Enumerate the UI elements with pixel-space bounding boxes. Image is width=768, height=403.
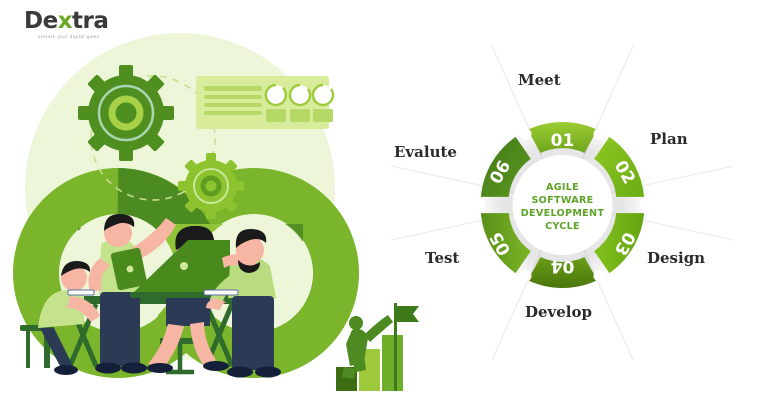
cycle-label-plan[interactable]: Plan	[650, 130, 688, 148]
dashboard-panel-icon	[196, 76, 333, 129]
team-collaboration-illustration	[8, 28, 368, 388]
illustration-svg	[8, 28, 368, 388]
cycle-label-develop[interactable]: Develop	[525, 303, 592, 321]
p4-legs	[232, 296, 274, 370]
cycle-label-design[interactable]: Design	[647, 249, 705, 267]
core-line-1: AGILE	[546, 182, 579, 193]
p4-shoe-r	[255, 367, 281, 378]
p4-shoe-l	[227, 367, 253, 378]
gear-small-icon	[178, 153, 244, 219]
cycle-label-test[interactable]: Test	[425, 249, 459, 267]
segment-number-01: 01	[551, 131, 575, 151]
page-root: Dextra elevate your digital game	[0, 0, 768, 403]
cycle-label-evalute[interactable]: Evalute	[394, 143, 457, 161]
core-line-3: DEVELOPMENT	[521, 208, 605, 219]
p3-skirt	[166, 296, 210, 326]
p3-shoe-l	[147, 363, 173, 373]
core-line-4: CYCLE	[545, 221, 580, 232]
segment-number-04: 04	[551, 256, 575, 276]
p2-legs	[100, 292, 140, 366]
p2-shoe-r	[121, 363, 147, 374]
p1-shoe	[54, 365, 78, 375]
core-line-2: SOFTWARE	[531, 195, 593, 206]
p2-shoe-l	[95, 363, 121, 374]
dashboard-donut-charts	[266, 85, 333, 105]
dashboard-tiles	[266, 109, 333, 122]
gear-large-icon	[78, 65, 174, 161]
cycle-label-meet[interactable]: Meet	[518, 71, 561, 89]
agile-cycle-diagram: AGILE SOFTWARE DEVELOPMENT CYCLE 01 02 0…	[385, 38, 740, 368]
p3-shoe-r	[203, 361, 229, 371]
